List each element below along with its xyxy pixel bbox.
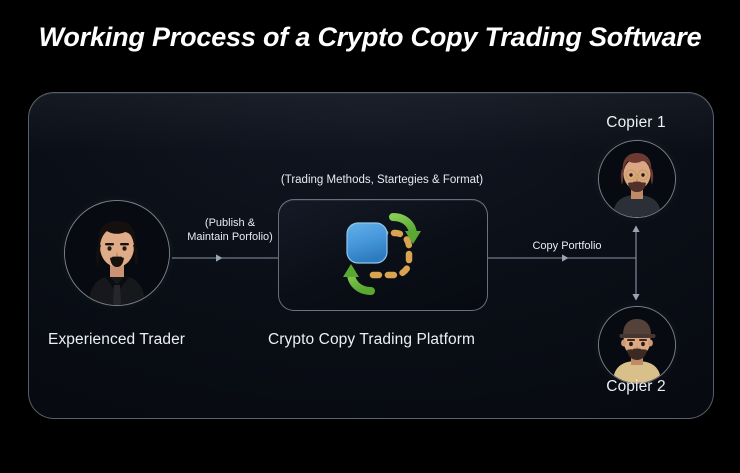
trader-avatar-icon [65,201,169,305]
edge-label-publish: (Publish & Maintain Porfolio) [178,216,282,244]
diagram-canvas: Working Process of a Crypto Copy Trading… [0,0,740,473]
arrow-counterclockwise [343,264,371,291]
platform-box [278,199,488,311]
edge-label-copy-portfolio: Copy Portfolio [512,239,622,253]
node-caption-copier-1: Copier 1 [598,114,674,132]
edge-label-publish-line1: (Publish & [178,216,282,230]
page-title: Working Process of a Crypto Copy Trading… [0,22,740,53]
copier2-avatar-icon [599,307,675,383]
avatar-copier-2 [598,306,676,384]
copier1-avatar-icon [599,141,675,217]
edge-label-publish-line2: Maintain Porfolio) [178,230,282,244]
node-caption-platform: Crypto Copy Trading Platform [268,331,475,349]
sync-refresh-icon [335,211,431,299]
node-caption-copier-2: Copier 2 [598,378,674,396]
avatar-experienced-trader [64,200,170,306]
blue-square [347,223,387,263]
node-caption-trader: Experienced Trader [48,331,185,349]
edge-label-trading-methods: (Trading Methods, Startegies & Format) [271,173,493,187]
avatar-copier-1 [598,140,676,218]
